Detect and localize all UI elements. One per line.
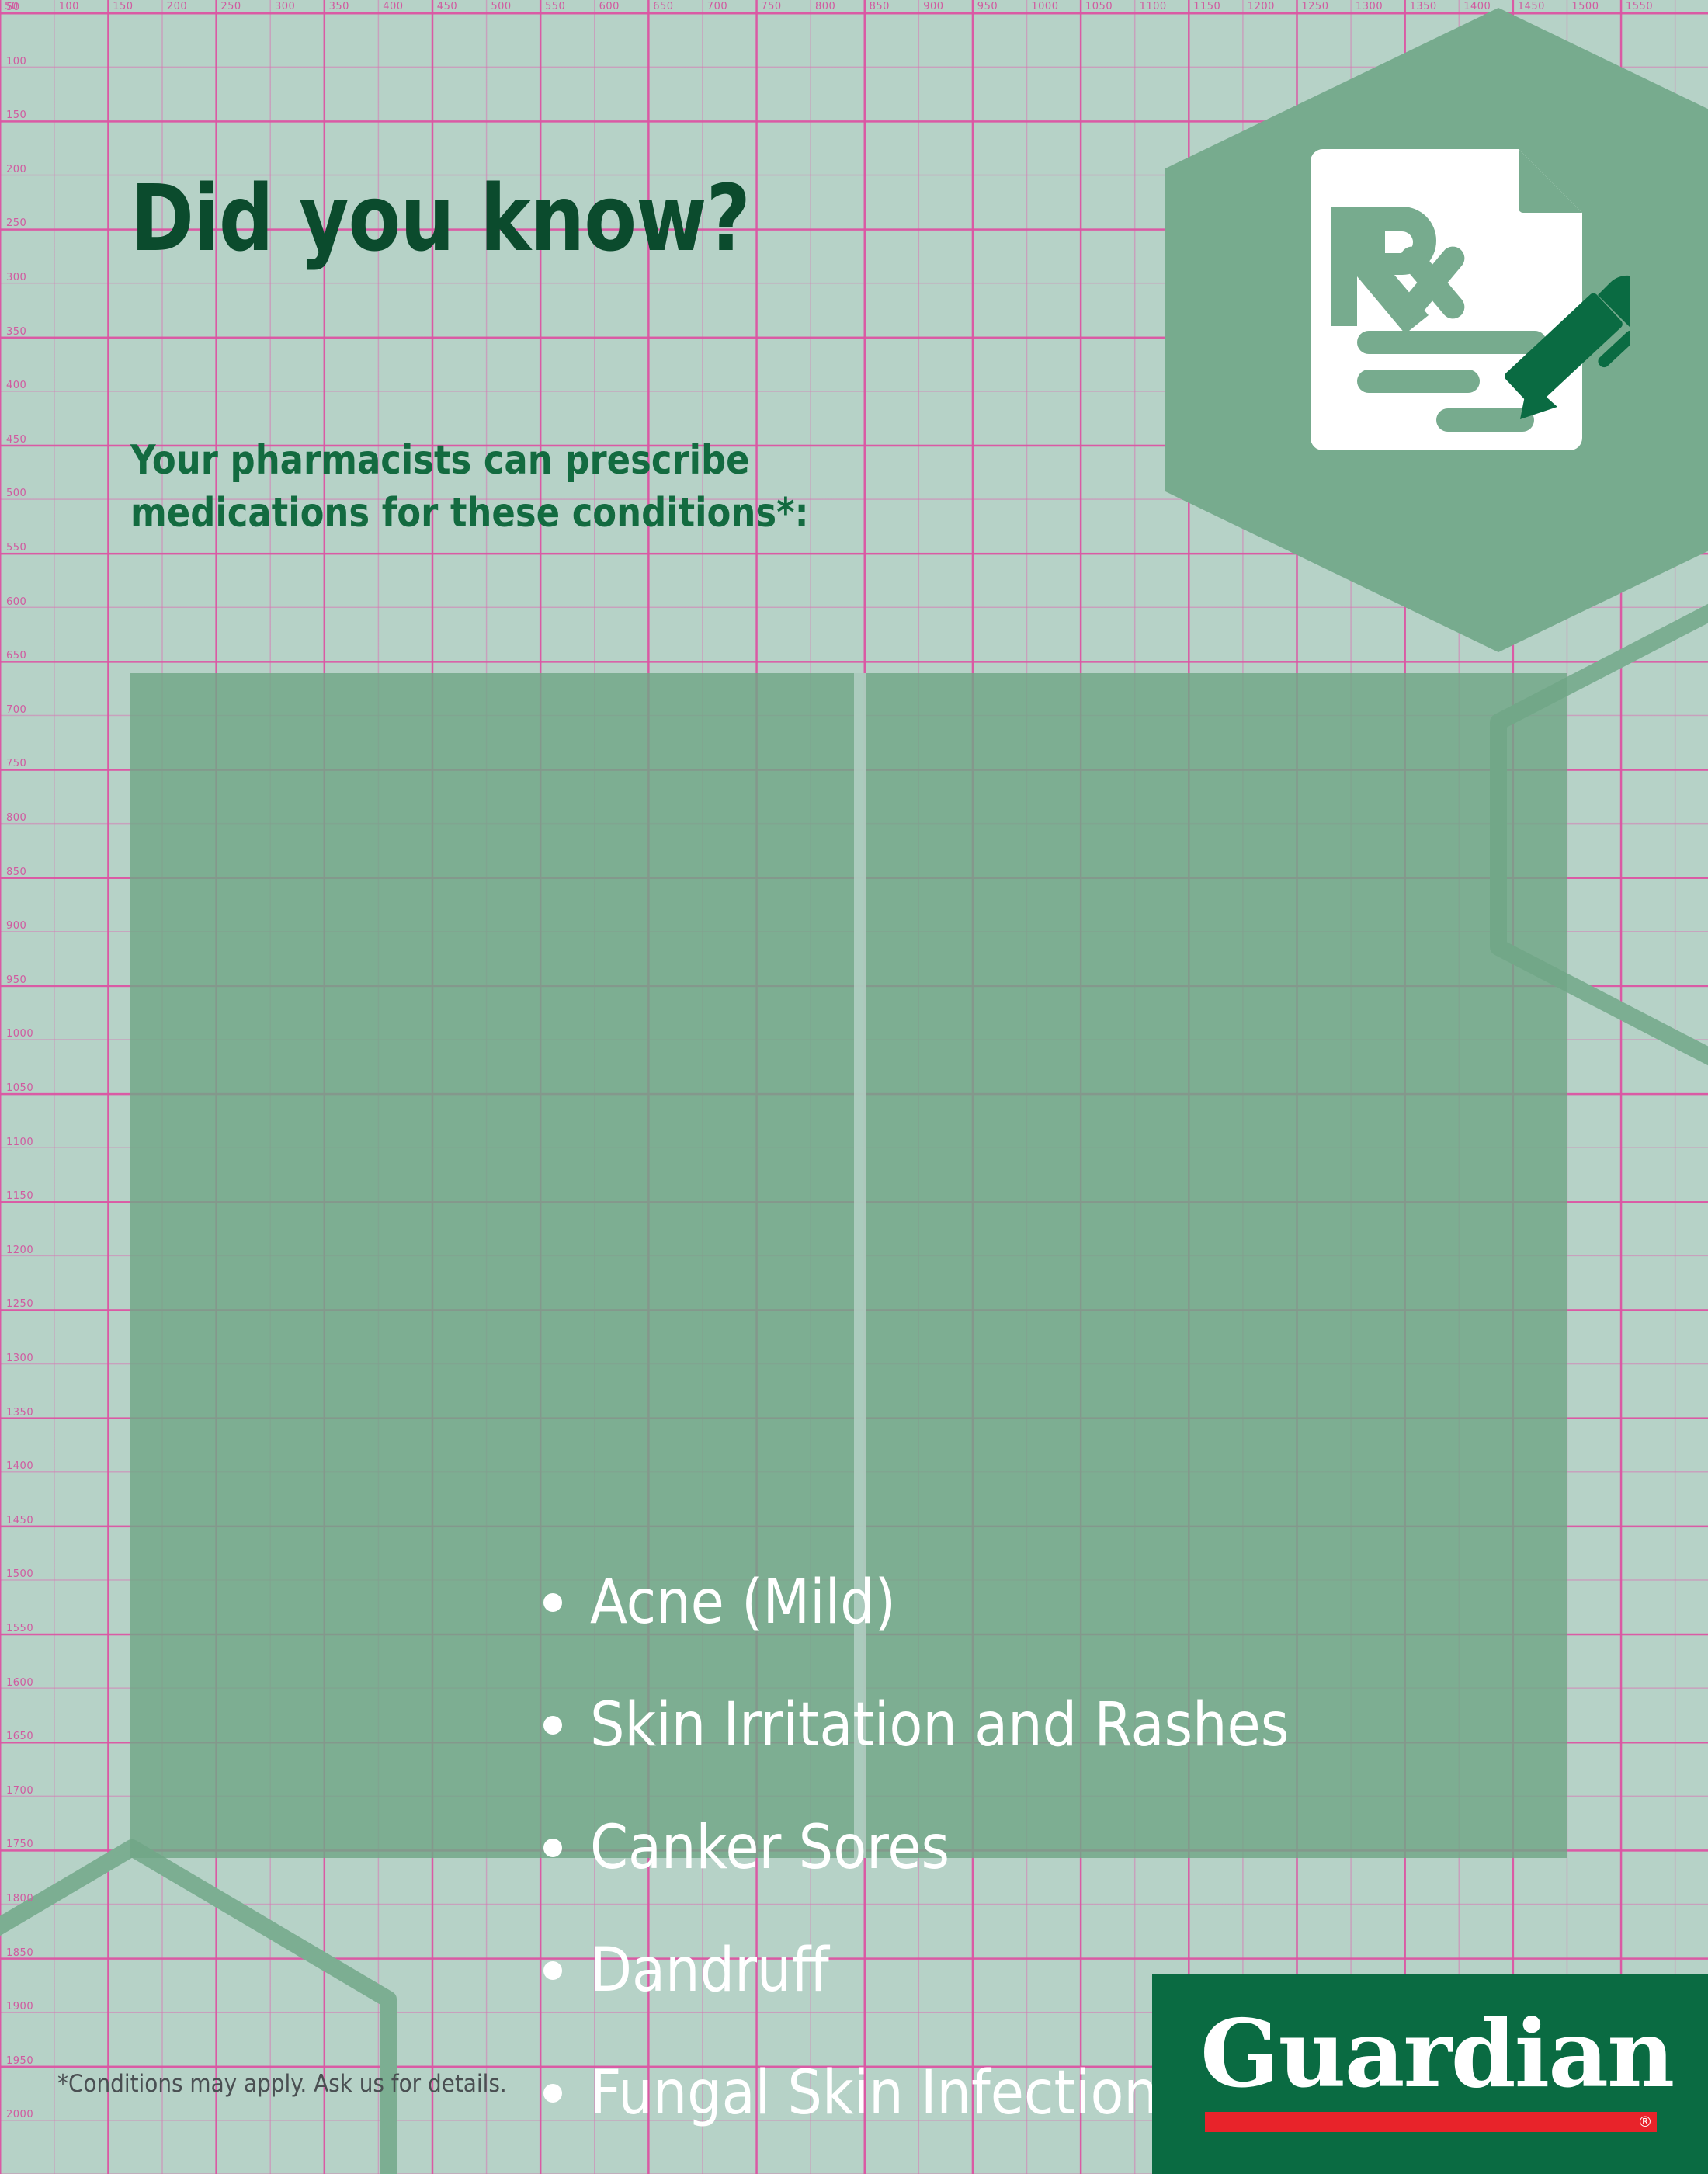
page-title: Did you know?	[130, 172, 750, 264]
ruler-label-h: 1100	[1140, 1, 1167, 12]
ruler-label-v: 1100	[6, 1137, 33, 1148]
ruler-label-h: 200	[167, 1, 187, 12]
ruler-label-v: 1550	[6, 1623, 33, 1634]
condition-label: Canker Sores	[590, 1813, 949, 1883]
ruler-label-v: 1150	[6, 1190, 33, 1202]
bullet-icon	[543, 1839, 562, 1857]
ruler-label-v: 1450	[6, 1515, 33, 1526]
bullet-icon	[543, 2084, 562, 2103]
ruler-label-v: 350	[6, 326, 26, 338]
ruler-label-v: 550	[6, 542, 26, 554]
ruler-label-h: 1500	[1571, 1, 1599, 12]
ruler-label-h: 1150	[1193, 1, 1220, 12]
ruler-label-h: 900	[923, 1, 943, 12]
ruler-label-h: 550	[545, 1, 565, 12]
ruler-label-h: 1550	[1626, 1, 1653, 12]
ruler-label-h: 350	[329, 1, 349, 12]
list-item: Canker Sores	[543, 1787, 1289, 1909]
bullet-icon	[543, 1593, 562, 1612]
ruler-label-v: 1600	[6, 1677, 33, 1689]
ruler-label-v: 1200	[6, 1245, 33, 1256]
registered-trademark-icon: ®	[1635, 2112, 1655, 2132]
ruler-label-v: 50	[6, 2, 20, 13]
hexagon-outline-right	[1568, 590, 1708, 994]
ruler-label-v: 200	[6, 164, 26, 175]
ruler-label-h: 100	[59, 1, 79, 12]
ruler-label-h: 50	[5, 1, 19, 12]
logo-wordmark: Guardian	[1200, 2008, 1673, 2101]
ruler-label-v: 600	[6, 596, 26, 608]
ruler-label-h: 650	[653, 1, 673, 12]
ruler-label-v: 850	[6, 866, 26, 878]
ruler-label-v: 150	[6, 109, 26, 121]
ruler-label-h: 300	[275, 1, 295, 12]
ruler-label-v: 950	[6, 974, 26, 986]
prescription-document-icon	[1304, 140, 1630, 466]
ruler-label-v: 100	[6, 56, 26, 68]
hexagon-outline-bottom-left	[0, 1832, 419, 2174]
ruler-label-v: 650	[6, 650, 26, 662]
ruler-label-h: 1300	[1356, 1, 1383, 12]
ruler-label-v: 1700	[6, 1785, 33, 1797]
ruler-label-h: 250	[220, 1, 241, 12]
ruler-label-v: 1000	[6, 1028, 33, 1040]
bullet-icon	[543, 1716, 562, 1735]
design-canvas: Did you know? Your pharmacists can presc…	[0, 0, 1708, 2174]
ruler-label-h: 150	[113, 1, 133, 12]
list-item: Skin Irritation and Rashes	[543, 1664, 1289, 1787]
guardian-logo: Guardian ®	[1152, 1974, 1708, 2174]
logo-red-bar	[1205, 2112, 1657, 2132]
ruler-label-h: 1400	[1463, 1, 1491, 12]
ruler-label-v: 800	[6, 812, 26, 824]
bullet-icon	[543, 1961, 562, 1980]
ruler-label-v: 1350	[6, 1407, 33, 1419]
ruler-label-h: 1050	[1085, 1, 1113, 12]
ruler-label-v: 450	[6, 434, 26, 446]
ruler-label-h: 850	[870, 1, 890, 12]
ruler-label-h: 800	[815, 1, 835, 12]
ruler-label-h: 1200	[1248, 1, 1275, 12]
ruler-label-h: 1350	[1410, 1, 1437, 12]
ruler-label-v: 1300	[6, 1353, 33, 1364]
ruler-label-v: 1050	[6, 1082, 33, 1094]
condition-label: Fungal Skin Infections	[590, 2058, 1186, 2128]
list-item: Acne (Mild)	[543, 1541, 1289, 1664]
ruler-label-h: 600	[599, 1, 620, 12]
ruler-label-v: 1400	[6, 1460, 33, 1472]
ruler-label-v: 250	[6, 217, 26, 229]
ruler-label-h: 950	[977, 1, 998, 12]
ruler-label-v: 700	[6, 704, 26, 716]
page-subtitle: Your pharmacists can prescribe medicatio…	[130, 435, 809, 540]
ruler-label-v: 1500	[6, 1568, 33, 1580]
footnote-text: *Conditions may apply. Ask us for detail…	[57, 2070, 507, 2098]
ruler-label-h: 1250	[1301, 1, 1328, 12]
ruler-label-h: 700	[707, 1, 727, 12]
condition-label: Acne (Mild)	[590, 1568, 896, 1637]
ruler-label-v: 400	[6, 380, 26, 391]
ruler-label-h: 50	[5, 1, 19, 12]
ruler-label-h: 400	[383, 1, 403, 12]
ruler-label-v: 1250	[6, 1298, 33, 1310]
ruler-label-h: 450	[437, 1, 457, 12]
ruler-label-h: 1450	[1518, 1, 1545, 12]
ruler-label-h: 750	[761, 1, 781, 12]
ruler-label-v: 750	[6, 758, 26, 769]
ruler-label-h: 500	[491, 1, 511, 12]
ruler-label-v: 500	[6, 488, 26, 499]
condition-label: Skin Irritation and Rashes	[590, 1690, 1289, 1760]
condition-label: Dandruff	[590, 1936, 829, 2006]
ruler-label-v: 900	[6, 920, 26, 932]
ruler-label-h: 1000	[1031, 1, 1058, 12]
ruler-label-v: 300	[6, 272, 26, 283]
ruler-label-v: 1650	[6, 1731, 33, 1742]
